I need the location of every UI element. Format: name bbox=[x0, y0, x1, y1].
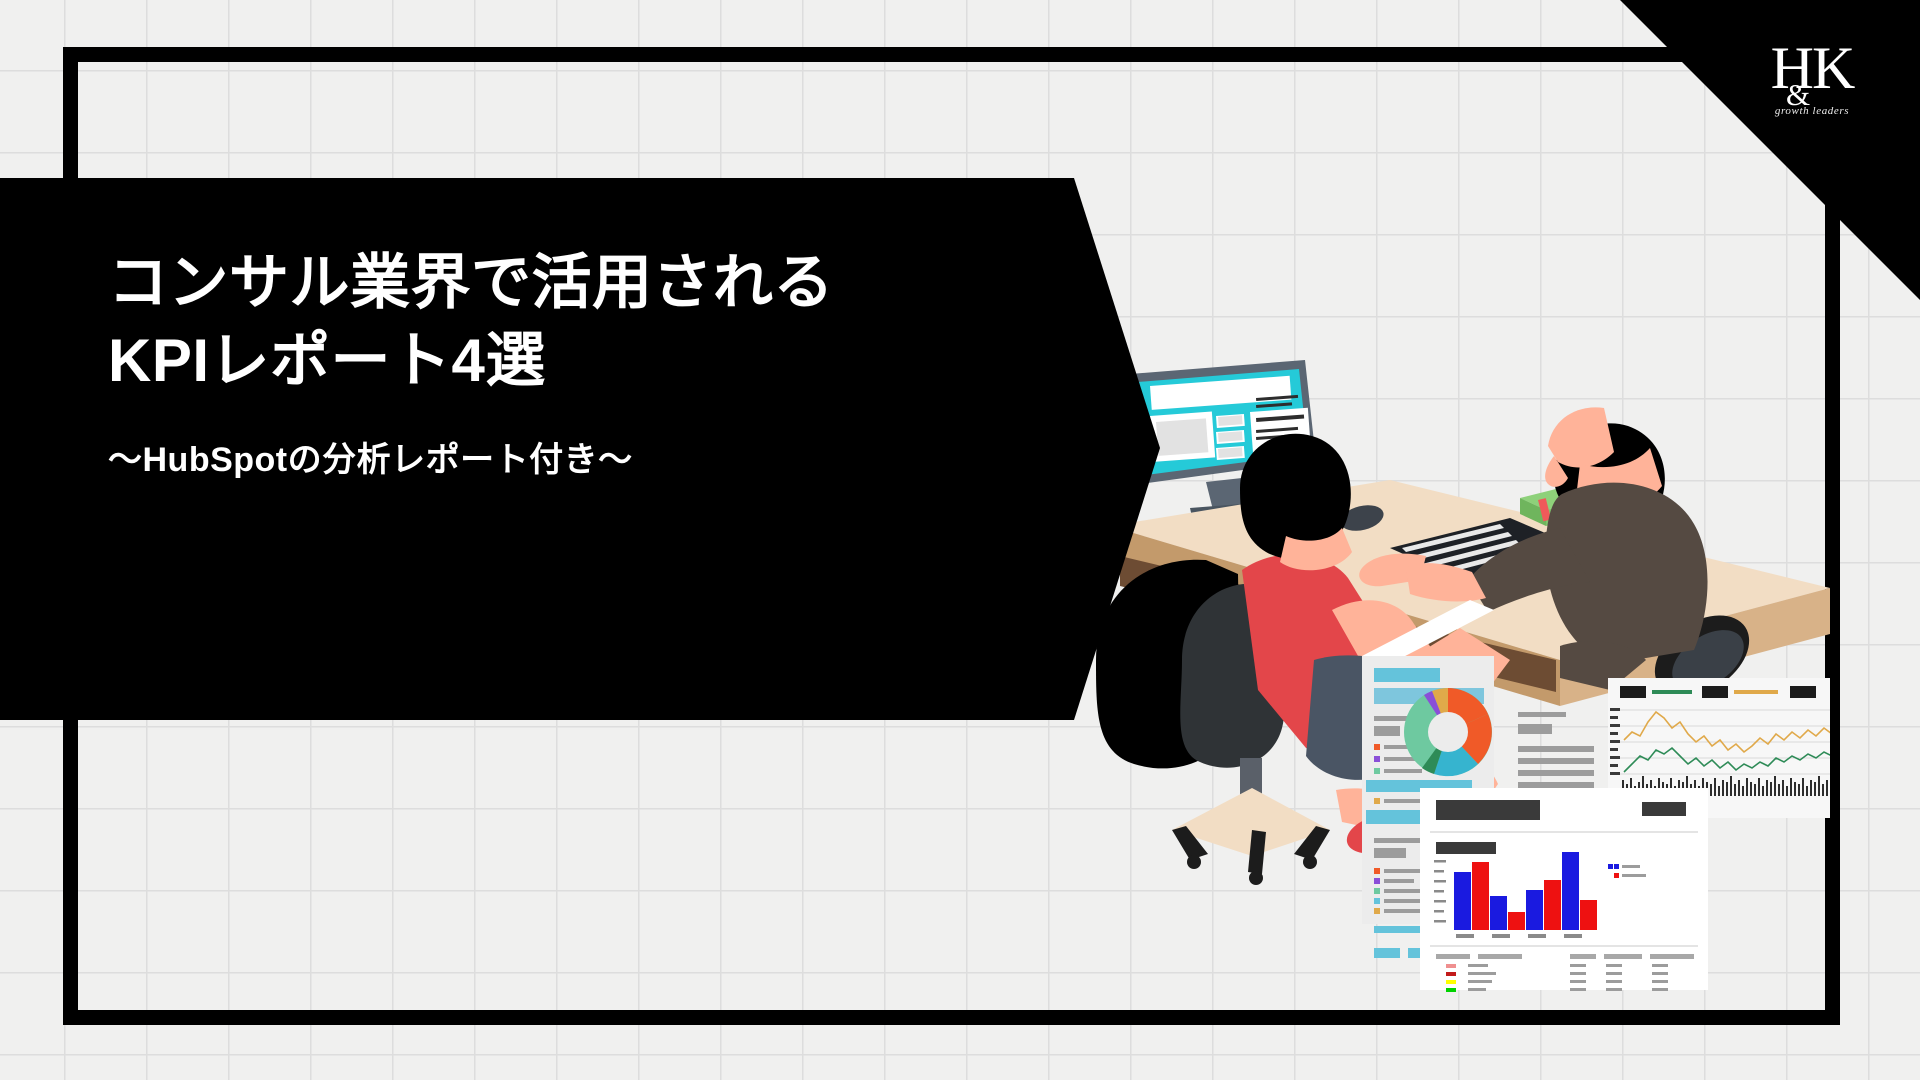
logo-letter-k: K bbox=[1812, 35, 1853, 101]
logo-tagline: growth leaders bbox=[1752, 105, 1872, 117]
brand-logo: HK & growth leaders bbox=[1752, 38, 1872, 130]
title-line-2: KPIレポート4選 bbox=[108, 322, 1008, 400]
title-line-1: コンサル業界で活用される bbox=[108, 244, 1008, 322]
office-illustration bbox=[1090, 360, 1830, 1020]
report-bar-chart bbox=[1420, 788, 1708, 992]
title-text-block: コンサル業界で活用される KPIレポート4選 〜HubSpotの分析レポート付き… bbox=[108, 244, 1008, 482]
logo-monogram: HK & bbox=[1752, 38, 1872, 104]
subtitle: 〜HubSpotの分析レポート付き〜 bbox=[108, 438, 1008, 482]
slide-canvas: コンサル業界で活用される KPIレポート4選 〜HubSpotの分析レポート付き… bbox=[0, 0, 1920, 1080]
title-panel: コンサル業界で活用される KPIレポート4選 〜HubSpotの分析レポート付き… bbox=[0, 178, 1160, 720]
